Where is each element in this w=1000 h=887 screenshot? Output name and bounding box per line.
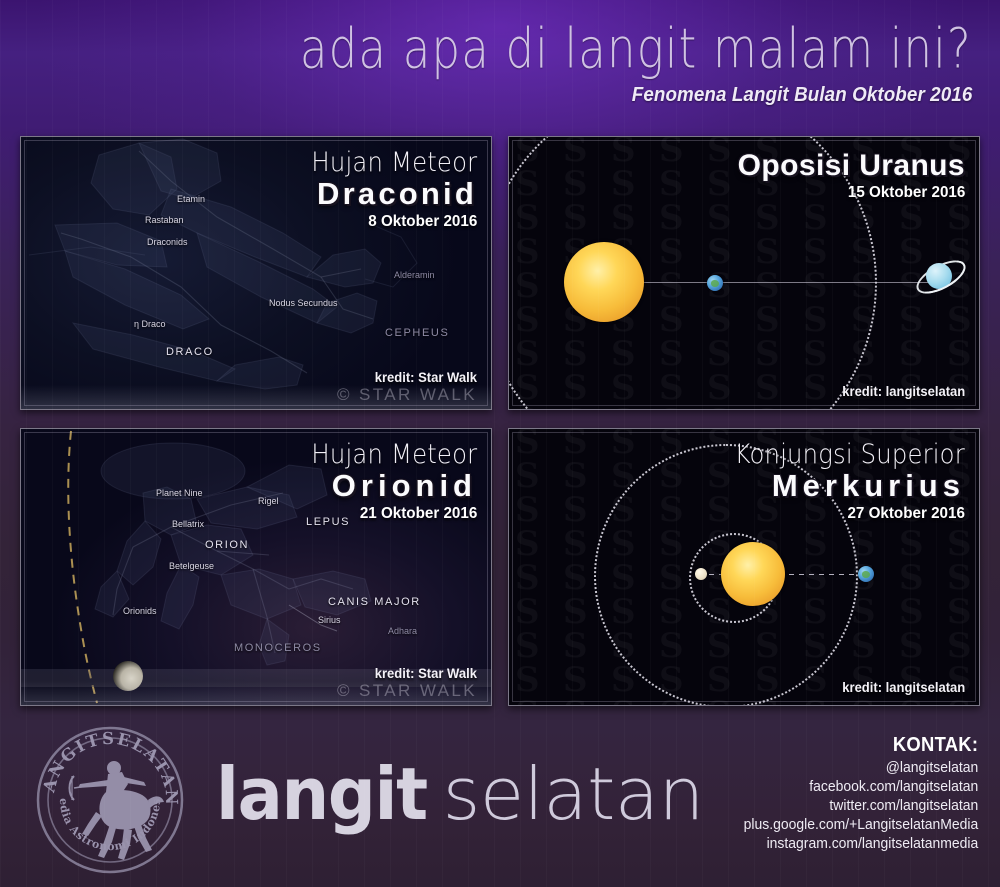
star-label: MONOCEROS bbox=[234, 642, 322, 654]
watermark-letter: S bbox=[899, 561, 924, 595]
watermark-letter: S bbox=[563, 663, 588, 697]
starwalk-watermark: © STAR WALK bbox=[337, 681, 477, 701]
watermark-letter: S bbox=[563, 595, 588, 629]
earth bbox=[858, 566, 874, 582]
panel-caption: Hujan Meteor Orionid 21 Oktober 2016 bbox=[293, 439, 477, 523]
panel-draconid[interactable]: Hujan Meteor Draconid 8 Oktober 2016 kre… bbox=[20, 136, 492, 410]
contact-block: KONTAK: @langitselatan facebook.com/lang… bbox=[726, 734, 978, 852]
header: ada apa di langit malam ini? Fenomena La… bbox=[0, 0, 1000, 128]
watermark-letter: S bbox=[563, 459, 588, 493]
watermark-letter: S bbox=[563, 429, 588, 459]
watermark-letter: S bbox=[803, 697, 828, 705]
wordmark: langitselatan bbox=[216, 752, 704, 836]
contact-heading: KONTAK: bbox=[746, 734, 978, 757]
watermark-letter: S bbox=[947, 595, 972, 629]
panel-date: 15 Oktober 2016 bbox=[749, 184, 965, 202]
star-label: η Draco bbox=[134, 319, 166, 329]
wordmark-bold: langit bbox=[216, 752, 427, 836]
watermark-letter: S bbox=[515, 663, 540, 697]
wordmark-light: selatan bbox=[443, 752, 704, 836]
watermark-letter: S bbox=[515, 629, 540, 663]
star-label: Orionids bbox=[123, 606, 157, 616]
watermark-letter: S bbox=[947, 527, 972, 561]
watermark-letter: S bbox=[611, 697, 636, 705]
watermark-letter: S bbox=[563, 629, 588, 663]
star-label: Adhara bbox=[388, 626, 417, 636]
star-label: Etamin bbox=[177, 194, 205, 204]
panel-konjungsi-merkurius[interactable]: SSSSSSSSSSSSSSSSSSSSSSSSSSSSSSSSSSSSSSSS… bbox=[508, 428, 980, 706]
contact-line-instagram-handle[interactable]: @langitselatan bbox=[743, 759, 978, 776]
star-label: Nodus Secundus bbox=[269, 298, 338, 308]
star-label: DRACO bbox=[166, 346, 214, 358]
watermark-letter: S bbox=[515, 459, 540, 493]
watermark-letter: S bbox=[563, 561, 588, 595]
panel-kicker: Hujan Meteor bbox=[311, 147, 477, 178]
panel-orionid[interactable]: Hujan Meteor Orionid 21 Oktober 2016 kre… bbox=[20, 428, 492, 706]
panel-name: Merkurius bbox=[709, 468, 965, 504]
star-label: CEPHEUS bbox=[385, 327, 449, 339]
watermark-letter: S bbox=[899, 595, 924, 629]
sun bbox=[564, 242, 644, 322]
watermark-letter: S bbox=[899, 629, 924, 663]
panel-name: Orionid bbox=[293, 468, 477, 504]
watermark-letter: S bbox=[563, 697, 588, 705]
watermark-letter: S bbox=[515, 697, 540, 705]
panel-date: 8 Oktober 2016 bbox=[302, 213, 477, 231]
contact-line-googleplus[interactable]: plus.google.com/+LangitselatanMedia bbox=[743, 816, 978, 833]
contact-line-twitter[interactable]: twitter.com/langitselatan bbox=[743, 797, 978, 814]
watermark-letter: S bbox=[851, 629, 876, 663]
watermark-letter: S bbox=[947, 629, 972, 663]
contact-line-facebook[interactable]: facebook.com/langitselatan bbox=[743, 778, 978, 795]
panel-caption: Oposisi Uranus 15 Oktober 2016 bbox=[738, 147, 965, 202]
watermark-letter: S bbox=[515, 595, 540, 629]
poster-root: ada apa di langit malam ini? Fenomena La… bbox=[0, 0, 1000, 887]
panel-kicker: Hujan Meteor bbox=[311, 439, 477, 470]
watermark-letter: S bbox=[515, 527, 540, 561]
star-label: Rastaban bbox=[145, 215, 184, 225]
star-label: CANIS MAJOR bbox=[328, 596, 421, 608]
panel-credit: kredit: Star Walk bbox=[375, 369, 477, 385]
star-label: Alderamin bbox=[394, 270, 435, 280]
star-label: Sirius bbox=[318, 615, 341, 625]
watermark-letter: S bbox=[851, 697, 876, 705]
watermark-letter: S bbox=[899, 527, 924, 561]
panel-date: 21 Oktober 2016 bbox=[302, 505, 477, 523]
watermark-letter: S bbox=[563, 493, 588, 527]
watermark-letter: S bbox=[563, 527, 588, 561]
opposition-sight-line bbox=[609, 282, 939, 283]
watermark-letter: S bbox=[515, 493, 540, 527]
panel-kicker: Konjungsi Superior bbox=[735, 439, 965, 470]
watermark-letter: S bbox=[515, 429, 540, 459]
star-label: Betelgeuse bbox=[169, 561, 214, 571]
panel-credit: kredit: Star Walk bbox=[375, 665, 477, 681]
watermark-letter: S bbox=[947, 561, 972, 595]
starwalk-watermark: © STAR WALK bbox=[337, 385, 477, 405]
watermark-letter: S bbox=[515, 561, 540, 595]
sun bbox=[721, 542, 785, 606]
earth bbox=[707, 275, 723, 291]
panel-credit: kredit: langitselatan bbox=[842, 679, 965, 695]
panel-credit: kredit: langitselatan bbox=[842, 383, 965, 399]
panel-date: 27 Oktober 2016 bbox=[722, 505, 965, 523]
contact-line-instagram[interactable]: instagram.com/langitselatanmedia bbox=[743, 835, 978, 852]
panel-oposisi-uranus[interactable]: SSSSSSSSSSSSSSSSSSSSSSSSSSSSSSSSSSSSSSSS… bbox=[508, 136, 980, 410]
langitselatan-logo[interactable]: LANGITSELATAN #Media Astronomi Indonesia… bbox=[34, 724, 186, 876]
mercury bbox=[695, 568, 707, 580]
star-label: Planet Nine bbox=[156, 488, 203, 498]
star-label: ORION bbox=[205, 539, 249, 551]
panel-caption: Hujan Meteor Draconid 8 Oktober 2016 bbox=[293, 147, 477, 231]
star-label: Draconids bbox=[147, 237, 188, 247]
star-label: Bellatrix bbox=[172, 519, 204, 529]
footer: LANGITSELATAN #Media Astronomi Indonesia… bbox=[0, 710, 1000, 887]
watermark-letter: S bbox=[611, 429, 636, 459]
star-label: Rigel bbox=[258, 496, 279, 506]
panel-name: Oposisi Uranus bbox=[738, 149, 965, 183]
page-title: ada apa di langit malam ini? bbox=[300, 21, 972, 76]
page-subtitle: Fenomena Langit Bulan Oktober 2016 bbox=[631, 84, 972, 107]
panel-caption: Konjungsi Superior Merkurius 27 Oktober … bbox=[709, 439, 965, 523]
watermark-letter: S bbox=[899, 697, 924, 705]
watermark-letter: S bbox=[947, 697, 972, 705]
panel-name: Draconid bbox=[293, 176, 477, 212]
